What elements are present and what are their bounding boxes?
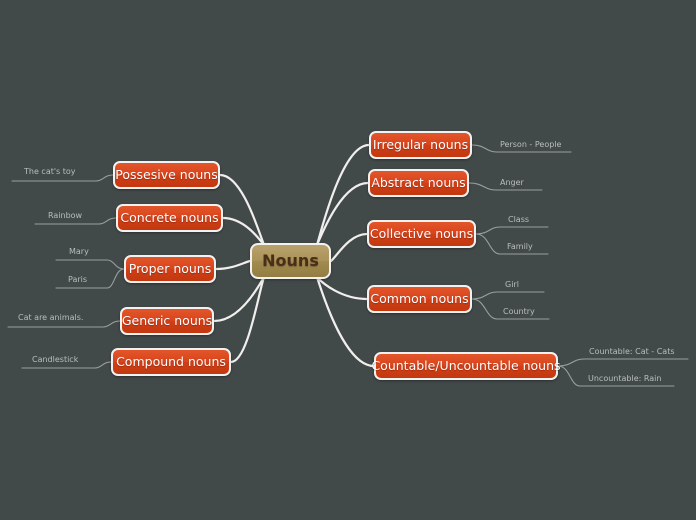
node-collective-nouns[interactable]: Collective nouns <box>367 220 476 248</box>
node-countable-uncountable-nouns[interactable]: Countable/Uncountable nouns <box>374 352 558 380</box>
leaf-connector-lines <box>8 145 688 386</box>
node-label-compound-nouns: Compound nouns <box>116 356 226 369</box>
node-label-generic-nouns: Generic nouns <box>122 315 212 328</box>
node-label-concrete-nouns: Concrete nouns <box>120 212 218 225</box>
leaf-label-possesive-nouns-0[interactable]: The cat's toy <box>24 168 76 176</box>
leaf-label-compound-nouns-0[interactable]: Candlestick <box>32 356 78 364</box>
mindmap-canvas: NounsPossesive nounsConcrete nounsProper… <box>0 0 696 520</box>
trunk-countable-uncountable-nouns <box>317 277 374 366</box>
leaf-line-proper-nouns-1 <box>56 269 124 288</box>
node-label-collective-nouns: Collective nouns <box>370 228 473 241</box>
node-abstract-nouns[interactable]: Abstract nouns <box>368 169 469 197</box>
leaf-label-generic-nouns-0[interactable]: Cat are animals. <box>18 314 83 322</box>
leaf-label-collective-nouns-1[interactable]: Family <box>507 243 533 251</box>
node-concrete-nouns[interactable]: Concrete nouns <box>116 204 223 232</box>
leaf-label-countable-uncountable-nouns-1[interactable]: Uncountable: Rain <box>588 375 661 383</box>
branch-connectors <box>0 0 696 520</box>
leaf-line-collective-nouns-0 <box>476 227 548 234</box>
leaf-label-common-nouns-0[interactable]: Girl <box>505 281 519 289</box>
node-common-nouns[interactable]: Common nouns <box>367 285 472 313</box>
node-label-proper-nouns: Proper nouns <box>129 263 212 276</box>
node-label-possesive-nouns: Possesive nouns <box>115 169 217 182</box>
leaf-line-common-nouns-0 <box>472 292 544 299</box>
trunk-common-nouns <box>317 277 367 299</box>
leaf-label-common-nouns-1[interactable]: Country <box>503 308 535 316</box>
trunk-possesive-nouns <box>220 175 264 245</box>
trunk-generic-nouns <box>214 277 264 321</box>
trunk-concrete-nouns <box>223 218 264 245</box>
trunk-compound-nouns <box>231 277 264 362</box>
center-node-nouns[interactable]: Nouns <box>250 243 331 279</box>
center-node-label: Nouns <box>262 253 319 269</box>
node-label-abstract-nouns: Abstract nouns <box>371 177 465 190</box>
node-generic-nouns[interactable]: Generic nouns <box>120 307 214 335</box>
trunk-irregular-nouns <box>317 145 369 245</box>
node-label-irregular-nouns: Irregular nouns <box>373 139 468 152</box>
leaf-label-concrete-nouns-0[interactable]: Rainbow <box>48 212 82 220</box>
leaf-label-irregular-nouns-0[interactable]: Person - People <box>500 141 561 149</box>
leaf-line-proper-nouns-0 <box>56 260 124 269</box>
node-label-common-nouns: Common nouns <box>370 293 468 306</box>
leaf-line-countable-uncountable-nouns-0 <box>558 359 688 366</box>
leaf-label-proper-nouns-1[interactable]: Paris <box>68 276 87 284</box>
node-proper-nouns[interactable]: Proper nouns <box>124 255 216 283</box>
node-compound-nouns[interactable]: Compound nouns <box>111 348 231 376</box>
trunk-abstract-nouns <box>317 183 368 245</box>
node-irregular-nouns[interactable]: Irregular nouns <box>369 131 472 159</box>
leaf-label-abstract-nouns-0[interactable]: Anger <box>500 179 524 187</box>
trunk-proper-nouns <box>216 261 250 269</box>
node-label-countable-uncountable-nouns: Countable/Uncountable nouns <box>371 360 560 373</box>
leaf-label-collective-nouns-0[interactable]: Class <box>508 216 529 224</box>
trunk-collective-nouns <box>331 234 367 261</box>
leaf-label-proper-nouns-0[interactable]: Mary <box>69 248 89 256</box>
leaf-label-countable-uncountable-nouns-0[interactable]: Countable: Cat - Cats <box>589 348 675 356</box>
node-possesive-nouns[interactable]: Possesive nouns <box>113 161 220 189</box>
